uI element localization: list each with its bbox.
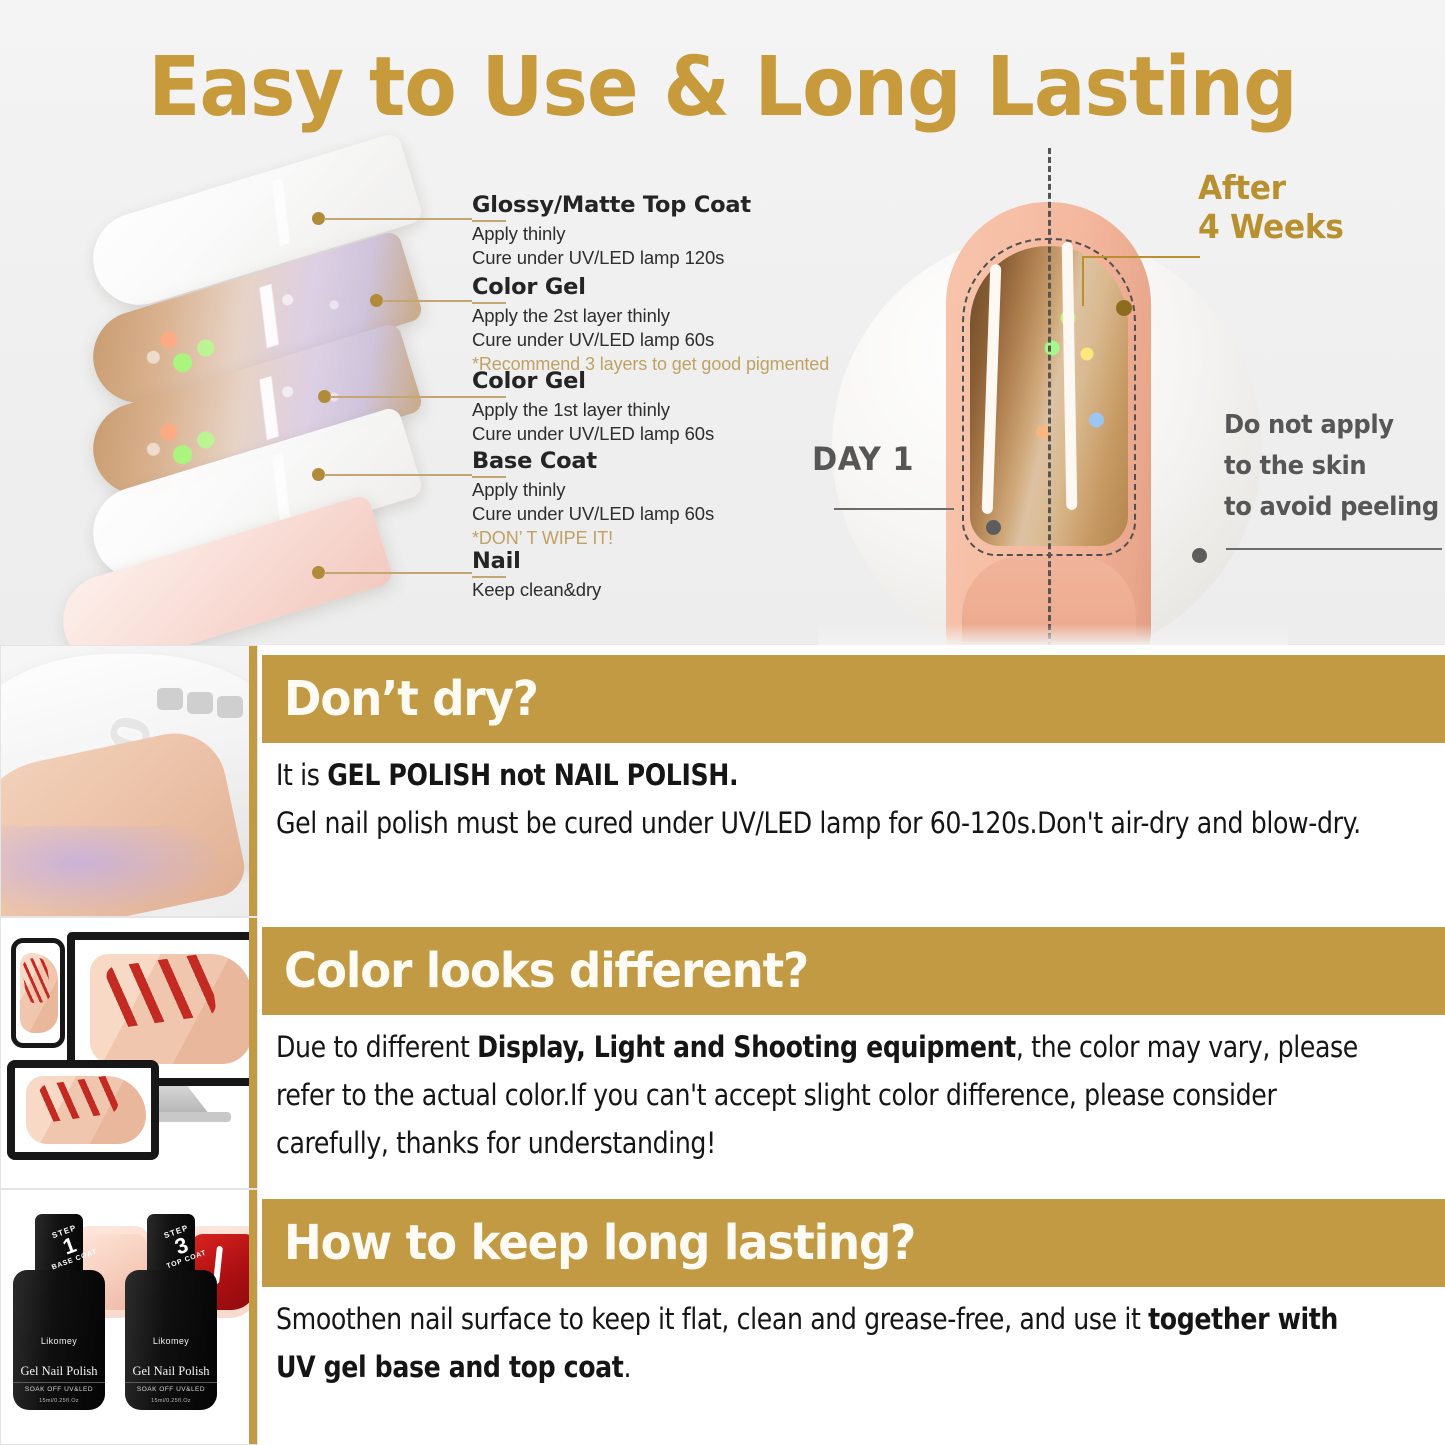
leader-line-color-gel-2 <box>382 300 472 302</box>
phone-device <box>11 938 65 1048</box>
day1-leader-dot <box>986 520 1001 535</box>
answer-rest: Gel nail polish must be cured under UV/L… <box>276 806 1361 840</box>
day1-leader-line <box>834 508 954 510</box>
photo-gold-edge <box>249 918 257 1188</box>
bottle-cap: STEP 1 BASE COAT <box>35 1214 83 1276</box>
tablet-device <box>7 1060 159 1160</box>
faq-section-dont-dry: 60 Don’t dry? It is GEL POLISH not NAIL … <box>0 645 1445 917</box>
faq-question: Color looks different? <box>284 943 808 999</box>
skin-warning-line3: to avoid peeling <box>1224 487 1439 528</box>
bottle-step-1: STEP 1 BASE COAT Likomey Gel Nail Polish… <box>13 1214 105 1410</box>
answer-lead: Due to different <box>276 1030 477 1064</box>
skin-leader-line <box>1226 548 1442 550</box>
annotation-line-2: Cure under UV/LED lamp 120s <box>472 246 751 270</box>
after-leader-elbow <box>1082 256 1084 306</box>
bottom-fade <box>818 624 1288 645</box>
answer-strong: Display, Light and Shooting equipment <box>477 1030 1016 1064</box>
bottle-cap: STEP 3 TOP COAT <box>147 1214 195 1276</box>
annotation-note: *DON’ T WIPE IT! <box>472 526 714 550</box>
annotation-color-gel-2: Color Gel Apply the 2st layer thinly Cur… <box>472 274 829 376</box>
bottle-body: Likomey Gel Nail Polish SOAK OFF UV&LED … <box>13 1270 105 1410</box>
hero-section: Easy to Use & Long Lasting Glossy/Matte … <box>0 0 1445 645</box>
annotation-line-1: Apply thinly <box>472 478 714 502</box>
after-4-weeks-label: After 4 Weeks <box>1198 168 1344 246</box>
annotation-heading: Color Gel <box>472 274 829 301</box>
day-1-label: DAY 1 <box>812 440 914 478</box>
answer-strong: GEL POLISH not NAIL POLISH. <box>327 758 738 792</box>
bottle-product-name: Gel Nail Polish <box>125 1364 217 1379</box>
answer-lead: It is <box>276 758 327 792</box>
faq-header-bar-long-lasting: How to keep long lasting? <box>262 1199 1445 1287</box>
annotation-heading: Glossy/Matte Top Coat <box>472 192 751 219</box>
annotation-heading: Color Gel <box>472 368 714 395</box>
photo-gold-edge <box>249 646 257 916</box>
faq-answer-long-lasting: Smoothen nail surface to keep it flat, c… <box>276 1295 1381 1391</box>
skin-leader-dot <box>1192 548 1207 563</box>
bottle-step-3: STEP 3 TOP COAT Likomey Gel Nail Polish … <box>125 1214 217 1410</box>
leader-line-nail <box>324 572 472 574</box>
faq-header-bar-dont-dry: Don’t dry? <box>262 655 1445 743</box>
leader-line-base-coat <box>324 474 472 476</box>
annotation-line-2: Cure under UV/LED lamp 60s <box>472 422 714 446</box>
faq-answer-dont-dry: It is GEL POLISH not NAIL POLISH. Gel na… <box>276 751 1381 847</box>
annotation-line-2: Cure under UV/LED lamp 60s <box>472 328 829 352</box>
skin-warning-line2: to the skin <box>1224 446 1439 487</box>
bottle-volume: 15ml/0.25fl.Oz <box>13 1398 105 1404</box>
annotation-heading: Nail <box>472 548 601 575</box>
annotation-color-gel-1: Color Gel Apply the 1st layer thinly Cur… <box>472 368 714 446</box>
photo-gold-edge <box>249 1190 257 1444</box>
leader-line-color-gel-1 <box>330 396 472 398</box>
faq-question: Don’t dry? <box>284 671 538 727</box>
annotation-line-1: Apply the 1st layer thinly <box>472 398 714 422</box>
devices-photo <box>0 917 258 1189</box>
annotation-nail: Nail Keep clean&dry <box>472 548 601 602</box>
after-label-line2: 4 Weeks <box>1198 207 1344 246</box>
bottle-volume: 15ml/0.25fl.Oz <box>125 1398 217 1404</box>
faq-section-color-different: Color looks different? Due to different … <box>0 917 1445 1189</box>
page-title: Easy to Use & Long Lasting <box>51 42 1395 134</box>
bottle-subtitle: SOAK OFF UV&LED <box>125 1382 217 1393</box>
bottle-brand: Likomey <box>125 1336 217 1346</box>
after-leader-dot <box>1116 300 1132 316</box>
bottle-body: Likomey Gel Nail Polish SOAK OFF UV&LED … <box>125 1270 217 1410</box>
annotation-line-1: Apply the 2st layer thinly <box>472 304 829 328</box>
faq-answer-color-different: Due to different Display, Light and Shoo… <box>276 1023 1381 1167</box>
answer-rest: . <box>623 1350 631 1384</box>
after-leader-line <box>1082 256 1200 258</box>
faq-header-bar-color-different: Color looks different? <box>262 927 1445 1015</box>
annotation-heading: Base Coat <box>472 448 714 475</box>
bottle-subtitle: SOAK OFF UV&LED <box>13 1382 105 1393</box>
after-label-line1: After <box>1198 168 1344 207</box>
split-divider-dashed <box>1048 148 1051 645</box>
skin-warning-line1: Do not apply <box>1224 405 1439 446</box>
annotation-line-1: Apply thinly <box>472 222 751 246</box>
bottle-brand: Likomey <box>13 1336 105 1346</box>
annotation-top-coat: Glossy/Matte Top Coat Apply thinly Cure … <box>472 192 751 270</box>
faq-question: How to keep long lasting? <box>284 1215 915 1271</box>
uv-lamp-photo: 60 <box>0 645 258 917</box>
bottles-photo: STEP 1 BASE COAT Likomey Gel Nail Polish… <box>0 1189 258 1445</box>
answer-lead: Smoothen nail surface to keep it flat, c… <box>276 1302 1148 1336</box>
annotation-line-2: Cure under UV/LED lamp 60s <box>472 502 714 526</box>
skin-warning-label: Do not apply to the skin to avoid peelin… <box>1224 405 1439 528</box>
uv-glow <box>0 826 229 916</box>
leader-line-top-coat <box>324 218 472 220</box>
faq-section-long-lasting: STEP 1 BASE COAT Likomey Gel Nail Polish… <box>0 1189 1445 1445</box>
annotation-line-1: Keep clean&dry <box>472 578 601 602</box>
annotation-base-coat: Base Coat Apply thinly Cure under UV/LED… <box>472 448 714 550</box>
bottle-product-name: Gel Nail Polish <box>13 1364 105 1379</box>
